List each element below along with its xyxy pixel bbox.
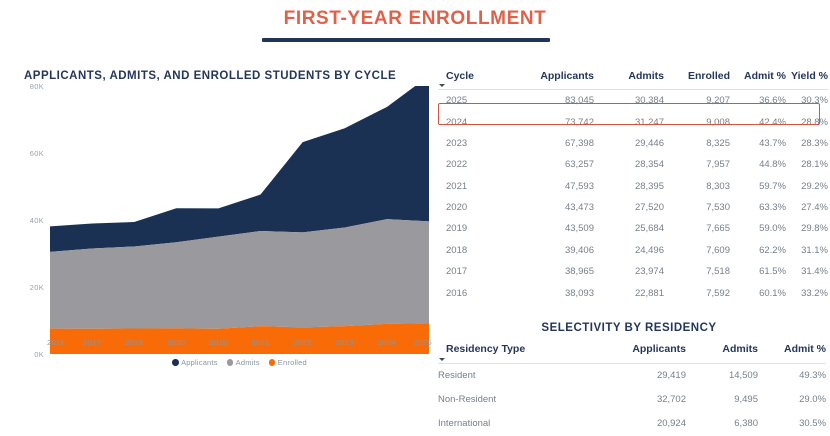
- chart-panel: APPLICANTS, ADMITS, AND ENROLLED STUDENT…: [14, 70, 429, 410]
- cell-type: International: [438, 412, 594, 436]
- cell-enrolled: 9,008: [664, 111, 730, 132]
- cell-applicants: 38,965: [512, 261, 594, 282]
- table-row[interactable]: 202473,74231,2479,00842.4%28.8%: [438, 111, 828, 132]
- x-axis-tick-label: 2025: [414, 338, 432, 347]
- cell-admit_pct: 42.4%: [730, 111, 786, 132]
- cell-admits: 24,496: [594, 240, 664, 261]
- legend-item[interactable]: Applicants: [172, 358, 218, 367]
- y-axis-tick-label: 80K: [14, 82, 44, 91]
- cell-admit_pct: 63.3%: [730, 197, 786, 218]
- cell-admit_pct: 44.8%: [730, 154, 786, 175]
- x-axis-tick-label: 2021: [252, 338, 270, 347]
- cell-cycle: 2020: [438, 197, 512, 218]
- cell-applicants: 47,593: [512, 176, 594, 197]
- x-axis-tick-label: 2024: [378, 338, 396, 347]
- chart-title: APPLICANTS, ADMITS, AND ENROLLED STUDENT…: [24, 70, 429, 82]
- enrollment-table-wrapper: Cycle Applicants Admits Enrolled Admit %…: [438, 70, 820, 304]
- y-axis-tick-label: 60K: [14, 149, 44, 158]
- legend-color-swatch: [227, 359, 234, 366]
- cell-yield_pct: 31.4%: [786, 261, 828, 282]
- cell-applicants: 20,924: [594, 412, 686, 436]
- cell-applicants: 39,406: [512, 240, 594, 261]
- legend-label: Admits: [236, 358, 260, 367]
- table-row[interactable]: 201943,50925,6847,66559.0%29.8%: [438, 218, 828, 239]
- cell-applicants: 63,257: [512, 154, 594, 175]
- cell-admit_pct: 30.5%: [758, 412, 826, 436]
- legend-color-swatch: [172, 359, 179, 366]
- cell-cycle: 2022: [438, 154, 512, 175]
- x-axis-tick-label: 2023: [336, 338, 354, 347]
- cell-admits: 14,509: [686, 363, 758, 388]
- cell-admits: 6,380: [686, 412, 758, 436]
- column-header-cycle[interactable]: Cycle: [438, 70, 512, 90]
- table-row[interactable]: 201638,09322,8817,59260.1%33.2%: [438, 282, 828, 303]
- cell-enrolled: 8,303: [664, 176, 730, 197]
- cell-admits: 28,395: [594, 176, 664, 197]
- cell-admits: 31,247: [594, 111, 664, 132]
- table-row[interactable]: Non-Resident32,7029,49529.0%: [438, 388, 826, 412]
- cell-admits: 9,495: [686, 388, 758, 412]
- cell-cycle: 2016: [438, 282, 512, 303]
- cell-admits: 30,384: [594, 90, 664, 112]
- legend-label: Enrolled: [278, 358, 307, 367]
- cell-yield_pct: 31.1%: [786, 240, 828, 261]
- cell-cycle: 2018: [438, 240, 512, 261]
- table-row[interactable]: 201738,96523,9747,51861.5%31.4%: [438, 261, 828, 282]
- legend-item[interactable]: Enrolled: [269, 358, 307, 367]
- cell-applicants: 29,419: [594, 363, 686, 388]
- cell-admit_pct: 61.5%: [730, 261, 786, 282]
- column-header-residency-applicants[interactable]: Applicants: [594, 343, 686, 364]
- residency-table: Residency Type Applicants Admits Admit %…: [438, 343, 826, 436]
- cell-applicants: 32,702: [594, 388, 686, 412]
- cell-admit_pct: 43.7%: [730, 133, 786, 154]
- enrollment-header-row: Cycle Applicants Admits Enrolled Admit %…: [438, 70, 828, 90]
- legend-color-swatch: [269, 359, 276, 366]
- cell-yield_pct: 29.2%: [786, 176, 828, 197]
- cell-admits: 23,974: [594, 261, 664, 282]
- title-underline-rule: [262, 38, 550, 42]
- column-header-residency-type[interactable]: Residency Type: [438, 343, 594, 364]
- cell-enrolled: 8,325: [664, 133, 730, 154]
- column-header-residency-admits[interactable]: Admits: [686, 343, 758, 364]
- cell-cycle: 2023: [438, 133, 512, 154]
- cell-enrolled: 7,665: [664, 218, 730, 239]
- column-header-residency-type-label: Residency Type: [446, 343, 525, 355]
- x-axis-tick-label: 2017: [83, 338, 101, 347]
- enrollment-table-body: 202583,04530,3849,20736.6%30.3%202473,74…: [438, 90, 828, 304]
- cell-type: Non-Resident: [438, 388, 594, 412]
- cell-applicants: 43,509: [512, 218, 594, 239]
- table-row[interactable]: 202367,39829,4468,32543.7%28.3%: [438, 133, 828, 154]
- cell-cycle: 2024: [438, 111, 512, 132]
- right-panel: Cycle Applicants Admits Enrolled Admit %…: [438, 70, 820, 436]
- column-header-admits[interactable]: Admits: [594, 70, 664, 90]
- column-header-yield-pct[interactable]: Yield %: [786, 70, 828, 90]
- table-row[interactable]: International20,9246,38030.5%: [438, 412, 826, 436]
- table-row[interactable]: Resident29,41914,50949.3%: [438, 363, 826, 388]
- stacked-area-chart: [50, 86, 429, 354]
- y-axis-tick-label: 40K: [14, 216, 44, 225]
- cell-admit_pct: 59.7%: [730, 176, 786, 197]
- cell-admits: 28,354: [594, 154, 664, 175]
- residency-table-head: Residency Type Applicants Admits Admit %: [438, 343, 826, 364]
- column-header-applicants[interactable]: Applicants: [512, 70, 594, 90]
- column-header-enrolled[interactable]: Enrolled: [664, 70, 730, 90]
- x-axis-tick-label: 2018: [125, 338, 143, 347]
- table-row[interactable]: 202583,04530,3849,20736.6%30.3%: [438, 90, 828, 112]
- cell-admits: 22,881: [594, 282, 664, 303]
- column-header-residency-admit-pct[interactable]: Admit %: [758, 343, 826, 364]
- cell-applicants: 73,742: [512, 111, 594, 132]
- cell-yield_pct: 30.3%: [786, 90, 828, 112]
- column-header-admit-pct[interactable]: Admit %: [730, 70, 786, 90]
- cell-applicants: 43,473: [512, 197, 594, 218]
- cell-applicants: 67,398: [512, 133, 594, 154]
- cell-enrolled: 7,957: [664, 154, 730, 175]
- x-axis-ticks: 2016201720182020201920212022202320242025: [50, 338, 429, 354]
- x-axis-tick-label: 2016: [47, 338, 65, 347]
- y-axis-tick-label: 0K: [14, 350, 44, 359]
- cell-yield_pct: 28.3%: [786, 133, 828, 154]
- y-axis-tick-label: 20K: [14, 283, 44, 292]
- cell-cycle: 2017: [438, 261, 512, 282]
- cell-admits: 27,520: [594, 197, 664, 218]
- cell-admit_pct: 59.0%: [730, 218, 786, 239]
- cell-admit_pct: 60.1%: [730, 282, 786, 303]
- residency-table-body: Resident29,41914,50949.3%Non-Resident32,…: [438, 363, 826, 436]
- legend-label: Applicants: [181, 358, 218, 367]
- column-header-cycle-label: Cycle: [446, 70, 474, 82]
- legend-item[interactable]: Admits: [227, 358, 260, 367]
- cell-cycle: 2019: [438, 218, 512, 239]
- cell-admits: 29,446: [594, 133, 664, 154]
- cell-enrolled: 9,207: [664, 90, 730, 112]
- cell-admit_pct: 62.2%: [730, 240, 786, 261]
- residency-section-title: SELECTIVITY BY RESIDENCY: [438, 322, 820, 334]
- cell-yield_pct: 28.1%: [786, 154, 828, 175]
- sort-descending-icon[interactable]: [439, 84, 445, 87]
- chart-legend: ApplicantsAdmitsEnrolled: [50, 358, 429, 367]
- cell-admits: 25,684: [594, 218, 664, 239]
- cell-enrolled: 7,592: [664, 282, 730, 303]
- sort-descending-icon[interactable]: [439, 358, 445, 361]
- chart-plot-area: 0K20K40K60K80K: [14, 86, 429, 354]
- x-axis-tick-label: 2019: [209, 338, 227, 347]
- cell-applicants: 38,093: [512, 282, 594, 303]
- x-axis-tick-label: 2022: [294, 338, 312, 347]
- cell-enrolled: 7,609: [664, 240, 730, 261]
- cell-enrolled: 7,518: [664, 261, 730, 282]
- table-row[interactable]: 202147,59328,3958,30359.7%29.2%: [438, 176, 828, 197]
- cell-admit_pct: 36.6%: [730, 90, 786, 112]
- cell-admit_pct: 49.3%: [758, 363, 826, 388]
- cell-cycle: 2025: [438, 90, 512, 112]
- cell-yield_pct: 27.4%: [786, 197, 828, 218]
- page-title: FIRST-YEAR ENROLLMENT: [0, 8, 830, 30]
- enrollment-table: Cycle Applicants Admits Enrolled Admit %…: [438, 70, 828, 304]
- table-row[interactable]: 202043,47327,5207,53063.3%27.4%: [438, 197, 828, 218]
- cell-yield_pct: 33.2%: [786, 282, 828, 303]
- table-row[interactable]: 201839,40624,4967,60962.2%31.1%: [438, 240, 828, 261]
- residency-header-row: Residency Type Applicants Admits Admit %: [438, 343, 826, 364]
- cell-yield_pct: 29.8%: [786, 218, 828, 239]
- cell-type: Resident: [438, 363, 594, 388]
- cell-admit_pct: 29.0%: [758, 388, 826, 412]
- enrollment-table-head: Cycle Applicants Admits Enrolled Admit %…: [438, 70, 828, 90]
- cell-yield_pct: 28.8%: [786, 111, 828, 132]
- cell-enrolled: 7,530: [664, 197, 730, 218]
- cell-applicants: 83,045: [512, 90, 594, 112]
- table-row[interactable]: 202263,25728,3547,95744.8%28.1%: [438, 154, 828, 175]
- cell-cycle: 2021: [438, 176, 512, 197]
- x-axis-tick-label: 2020: [167, 338, 185, 347]
